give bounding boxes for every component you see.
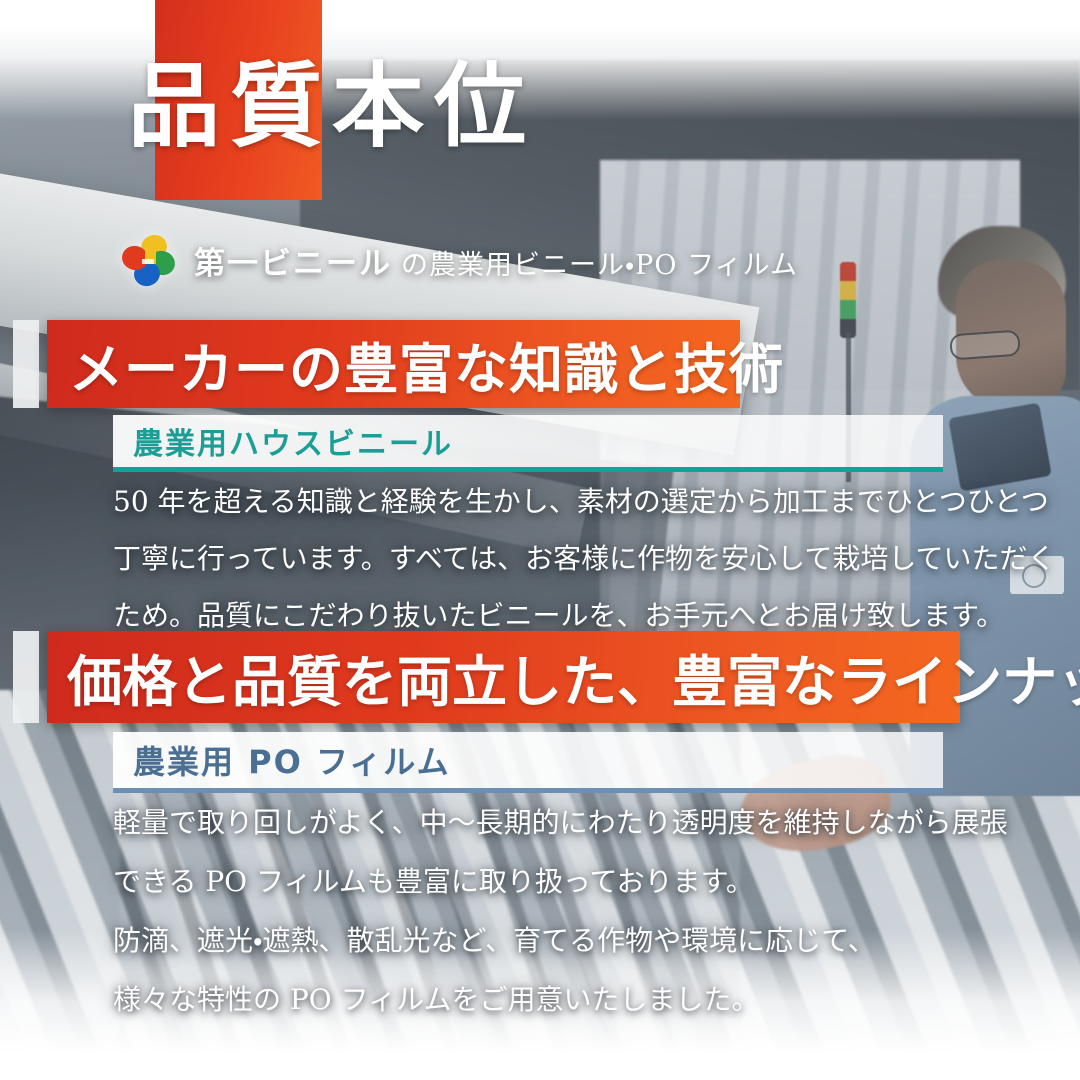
body-line: 軽量で取り回しがよく、中〜長期的にわたり透明度を維持しながら展張 bbox=[113, 798, 1008, 847]
section-subheading-2-label: 農業用 PO フィルム bbox=[113, 737, 451, 783]
section-subheading-band-2: 農業用 PO フィルム bbox=[113, 732, 943, 788]
section-banner-1-label: メーカーの豊富な知識と技術 bbox=[47, 325, 784, 404]
section-subheading-1-label: 農業用ハウスビニール bbox=[113, 419, 453, 463]
section-body-2: 軽量で取り回しがよく、中〜長期的にわたり透明度を維持しながら展張 できる PO … bbox=[113, 798, 1008, 1034]
banner-tick-1 bbox=[13, 320, 39, 408]
body-line: できる PO フィルムも豊富に取り扱っております。 bbox=[113, 857, 1008, 906]
section-rule-1 bbox=[113, 467, 943, 472]
brand-line: 第一ビニール の農業用ビニール・PO フィルム bbox=[120, 232, 798, 288]
poster-content: 品質本位 第一ビニール の農業用ビニール・PO フィルム bbox=[0, 0, 1080, 1080]
brand-text: 第一ビニール の農業用ビニール・PO フィルム bbox=[194, 238, 798, 283]
body-line: 50 年を超える知識と経験を生かし、素材の選定から加工までひとつひとつ bbox=[113, 478, 1055, 525]
headline-block: 品質本位 bbox=[0, 0, 1080, 200]
poster-stage: 品質本位 第一ビニール の農業用ビニール・PO フィルム bbox=[0, 0, 1080, 1080]
section-subheading-band-1: 農業用ハウスビニール bbox=[113, 415, 943, 467]
section-banner-2-label: 価格と品質を両立した、豊富なラインナップ bbox=[47, 637, 1080, 717]
brand-tagline: の農業用ビニール・PO フィルム bbox=[401, 243, 798, 282]
page-title: 品質本位 bbox=[128, 60, 536, 152]
daiichi-vinyl-pinwheel-logo bbox=[120, 232, 176, 288]
section-banner-2: 価格と品質を両立した、豊富なラインナップ bbox=[47, 631, 960, 723]
body-line: 丁寧に行っています。すべては、お客様に作物を安心して栽培していただく bbox=[113, 535, 1055, 582]
section-rule-2 bbox=[113, 788, 943, 793]
body-line: 様々な特性の PO フィルムをご用意いたしました。 bbox=[113, 975, 1008, 1024]
section-body-1: 50 年を超える知識と経験を生かし、素材の選定から加工までひとつひとつ 丁寧に行… bbox=[113, 478, 1055, 649]
section-banner-1: メーカーの豊富な知識と技術 bbox=[47, 320, 740, 408]
banner-tick-2 bbox=[13, 631, 39, 723]
brand-company-name: 第一ビニール bbox=[194, 238, 392, 283]
body-line: 防滴、遮光・遮熱、散乱光など、育てる作物や環境に応じて、 bbox=[113, 916, 1008, 965]
